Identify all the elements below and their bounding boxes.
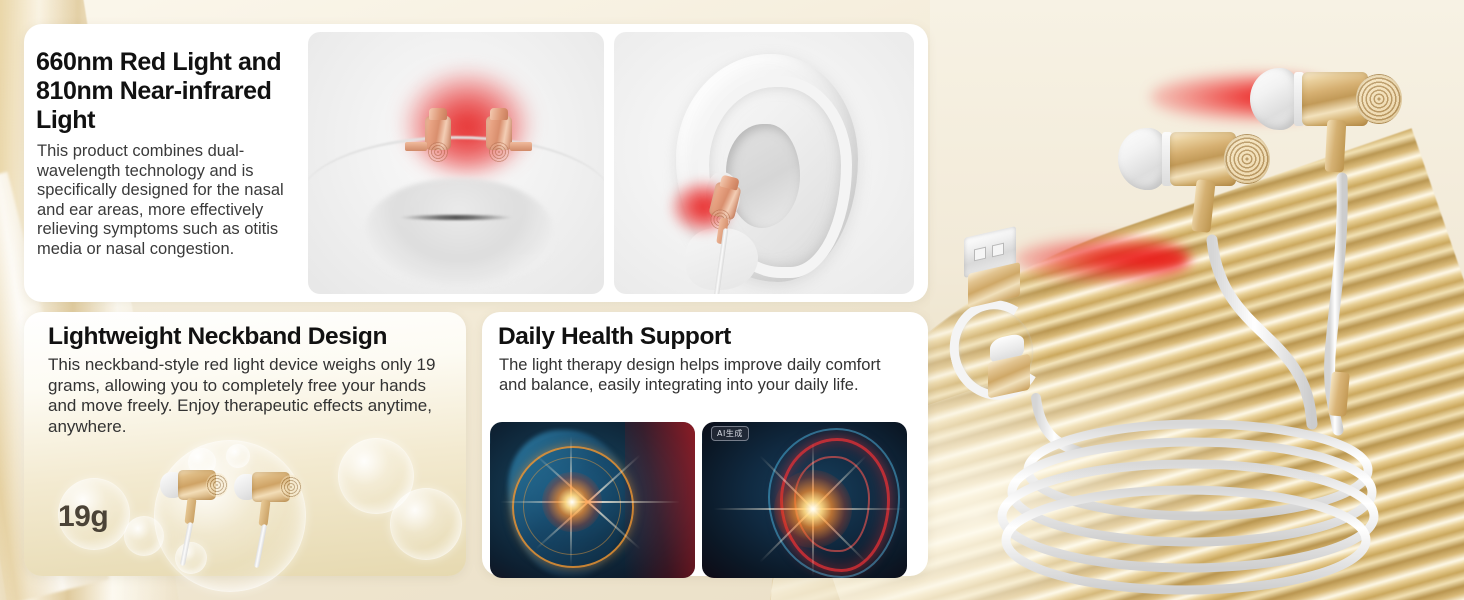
- earbud-grill: [206, 473, 228, 497]
- bud-stem: [405, 142, 427, 151]
- bubble-main-containing-earbuds: [154, 440, 306, 592]
- nasal-bud-right: [486, 116, 512, 150]
- earbud-grill: [280, 475, 302, 499]
- bud-stem: [510, 142, 532, 151]
- bud-grill: [489, 142, 509, 162]
- bud-cap: [490, 108, 508, 120]
- lips-shape: [364, 178, 554, 286]
- earbud-stem: [1325, 120, 1347, 173]
- earbuds-hero-product: [930, 0, 1464, 600]
- nasal-bud-left: [425, 116, 451, 150]
- ear-light-flare: [774, 470, 852, 548]
- cable-gold-sleeve: [1328, 371, 1350, 416]
- ear-application-photo: [614, 32, 914, 294]
- wavelength-title: 660nm Red Light and 810nm Near-infrared …: [36, 48, 298, 135]
- nasal-application-photo: [308, 32, 604, 294]
- lip-line: [400, 215, 512, 220]
- earbud-grill: [1356, 74, 1402, 124]
- wavelength-body: This product combines dual-wavelength te…: [37, 142, 305, 259]
- red-edge-light: [625, 422, 695, 578]
- weight-badge: 19g: [58, 500, 108, 534]
- bud-cap: [429, 108, 447, 120]
- ai-generated-watermark: AI生成: [711, 426, 749, 441]
- daily-health-body: The light therapy design helps improve d…: [499, 355, 911, 395]
- ear-concha: [726, 124, 800, 228]
- lightweight-body: This neckband-style red light device wei…: [48, 355, 452, 437]
- ear-therapy-render: AI生成: [702, 422, 907, 578]
- earbud-grill: [1224, 134, 1270, 184]
- nasal-light-flare: [542, 472, 602, 532]
- left-earbud-red-beam: [1014, 236, 1190, 282]
- bubble-decoration: [390, 488, 462, 560]
- infographic-canvas: 660nm Red Light and 810nm Near-infrared …: [0, 0, 1464, 600]
- nasal-therapy-render: [490, 422, 695, 578]
- lightweight-title: Lightweight Neckband Design: [48, 322, 387, 352]
- daily-health-title: Daily Health Support: [498, 322, 731, 352]
- bud-grill: [428, 142, 448, 162]
